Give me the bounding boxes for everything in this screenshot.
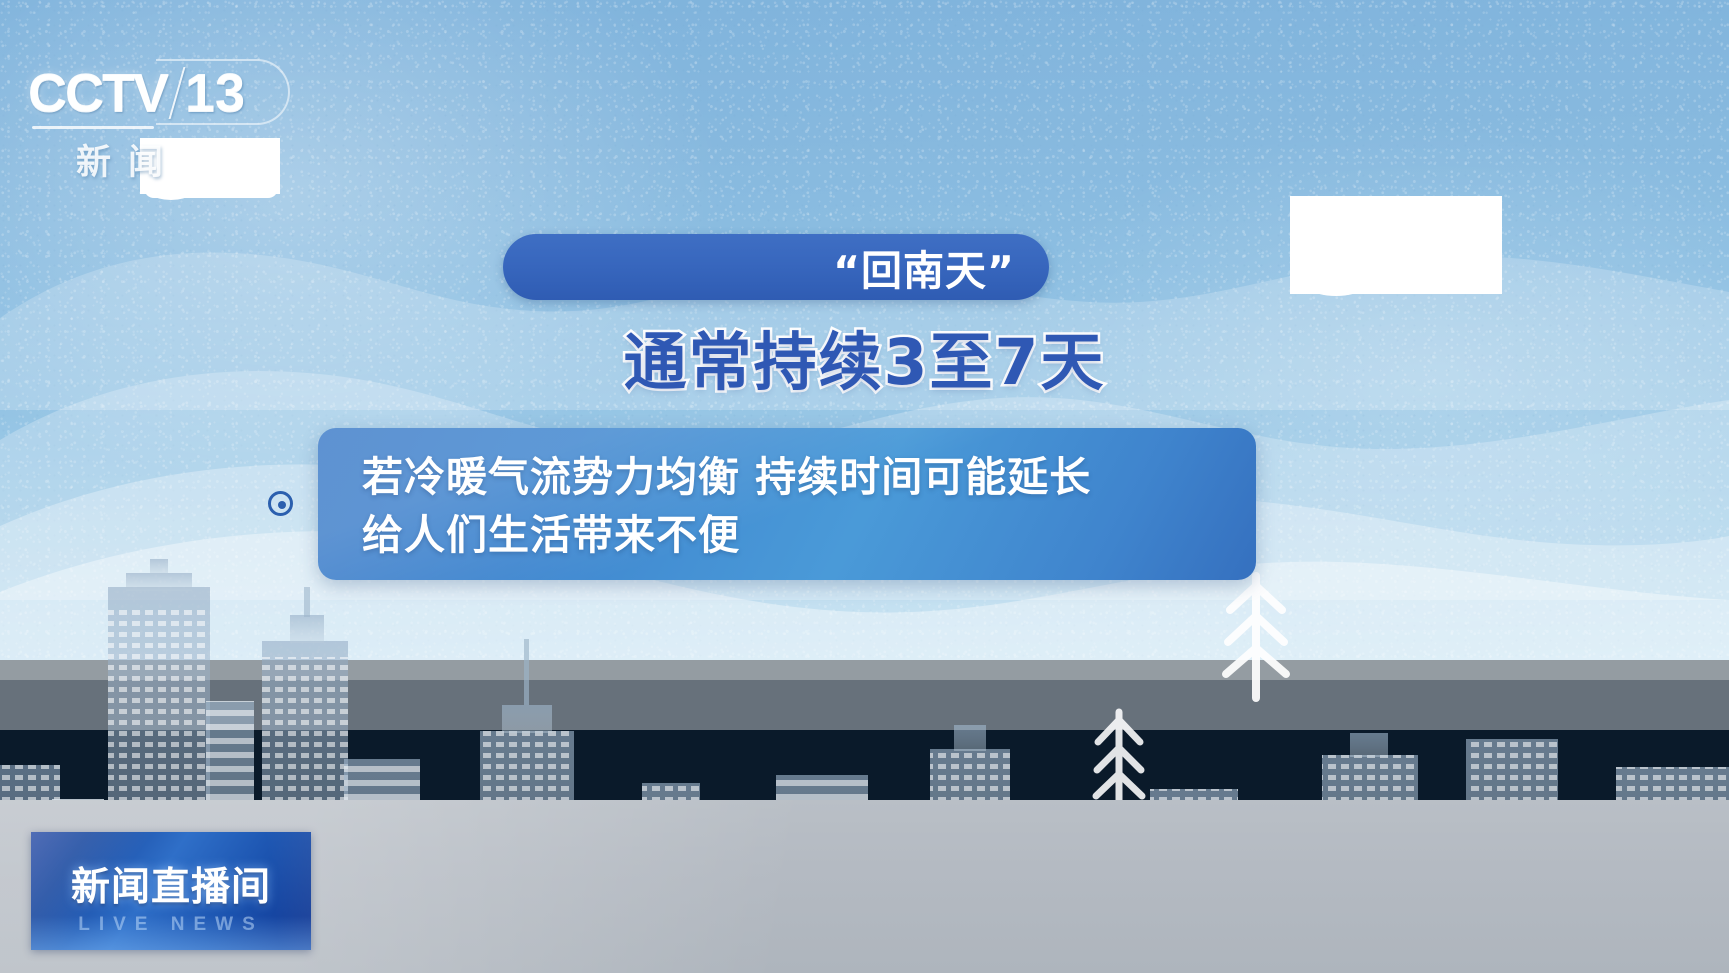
ring-dot-marker-icon (268, 491, 293, 516)
detail-message-box: 若冷暖气流势力均衡 持续时间可能延长 给人们生活带来不便 (318, 428, 1256, 580)
logo-rounded-capsule (156, 59, 290, 125)
banner-bottom-glow (31, 916, 311, 950)
cctv-wordmark: CCTV (28, 66, 167, 120)
detail-message-lines: 若冷暖气流势力均衡 持续时间可能延长 给人们生活带来不便 (362, 448, 1091, 564)
program-banner-title: 新闻直播间 (31, 856, 311, 912)
cctv13-logo: CCTV 13 新闻 (28, 62, 290, 174)
detail-message-line-1: 若冷暖气流势力均衡 持续时间可能延长 (362, 448, 1091, 506)
program-banner: 新闻直播间 LIVE NEWS (31, 832, 311, 950)
topic-pill: “回南天” (503, 234, 1049, 300)
broadcast-graphic-stage: CCTV 13 新闻 “回南天” 通常持续3至7天 若冷暖气流势力均衡 持续时间… (0, 0, 1729, 973)
detail-message-line-2: 给人们生活带来不便 (362, 506, 1091, 564)
cloud-base (1296, 258, 1500, 294)
cloud-large-right (1290, 196, 1502, 294)
logo-underline-rule (32, 126, 154, 129)
topic-pill-label: “回南天” (833, 234, 1015, 300)
logo-chinese-label: 新闻 (76, 134, 180, 185)
page-title: 通常持续3至7天 (0, 312, 1729, 403)
